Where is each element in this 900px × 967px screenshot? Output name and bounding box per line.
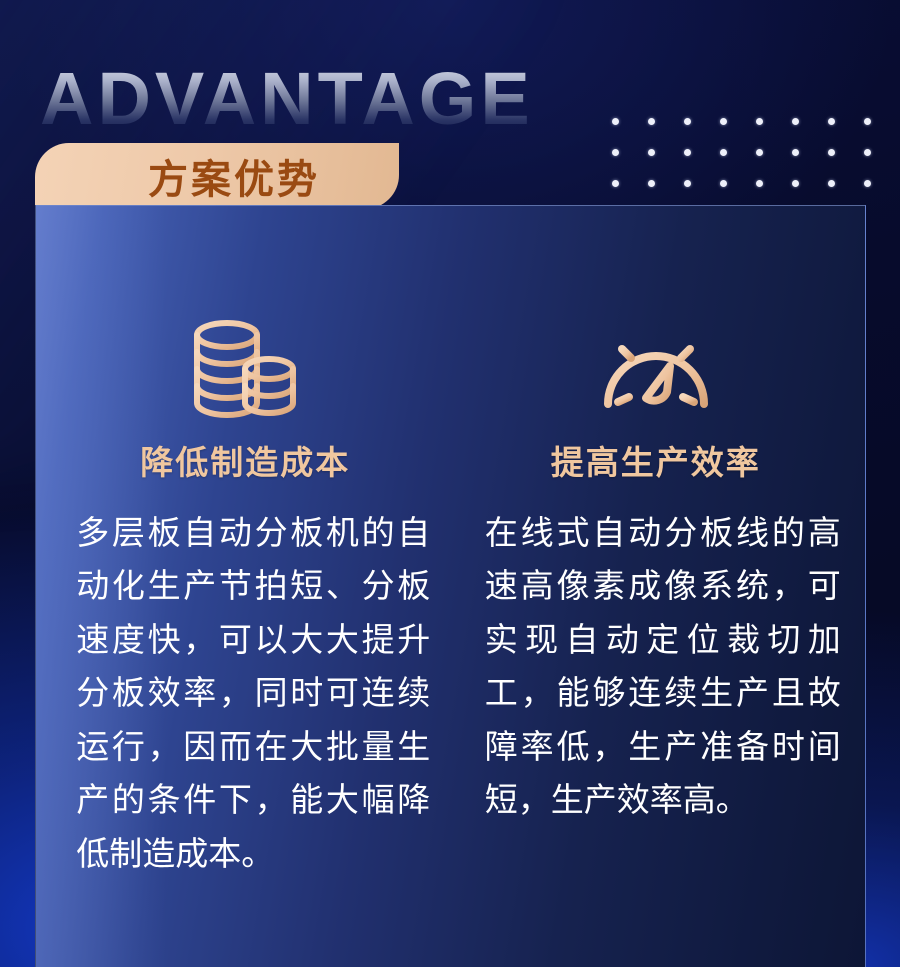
grid-dot bbox=[828, 180, 835, 187]
grid-dot bbox=[864, 180, 871, 187]
grid-dot bbox=[720, 118, 727, 125]
feature-item-cost: 降低制造成本 多层板自动分板机的自动化生产节拍短、分板速度快，可以大大提升分板效… bbox=[36, 206, 451, 967]
feature-body: 多层板自动分板机的自动化生产节拍短、分板速度快，可以大大提升分板效率，同时可连续… bbox=[60, 506, 430, 880]
grid-dot bbox=[864, 149, 871, 156]
section-badge-label: 方案优势 bbox=[148, 147, 320, 205]
grid-dot bbox=[612, 180, 619, 187]
grid-dot bbox=[648, 149, 655, 156]
feature-title: 降低制造成本 bbox=[140, 436, 350, 484]
advantage-card: 降低制造成本 多层板自动分板机的自动化生产节拍短、分板速度快，可以大大提升分板效… bbox=[35, 205, 866, 967]
grid-dot bbox=[684, 118, 691, 125]
grid-dot bbox=[828, 118, 835, 125]
poster-root: ADVANTAGE 方案优势 bbox=[0, 0, 900, 967]
grid-dot bbox=[756, 180, 763, 187]
grid-dot bbox=[720, 149, 727, 156]
feature-body: 在线式自动分板线的高速高像素成像系统，可实现自动定位裁切加工，能够连续生产且故障… bbox=[471, 506, 841, 827]
grid-dot bbox=[648, 180, 655, 187]
feature-columns: 降低制造成本 多层板自动分板机的自动化生产节拍短、分板速度快，可以大大提升分板效… bbox=[36, 206, 865, 967]
grid-dot bbox=[792, 180, 799, 187]
section-badge: 方案优势 bbox=[35, 143, 399, 209]
grid-dot bbox=[756, 118, 763, 125]
grid-dot bbox=[612, 149, 619, 156]
grid-dot bbox=[684, 180, 691, 187]
grid-dot bbox=[792, 118, 799, 125]
grid-dot bbox=[756, 149, 763, 156]
speedometer-icon bbox=[598, 318, 714, 422]
dot-grid-decoration bbox=[612, 118, 900, 211]
grid-dot bbox=[792, 149, 799, 156]
grid-dot bbox=[864, 118, 871, 125]
section-watermark-title: ADVANTAGE bbox=[40, 62, 534, 136]
feature-title: 提高生产效率 bbox=[551, 436, 761, 484]
grid-dot bbox=[648, 118, 655, 125]
grid-dot bbox=[612, 118, 619, 125]
grid-dot bbox=[720, 180, 727, 187]
coin-stack-icon bbox=[189, 318, 301, 422]
grid-dot bbox=[828, 149, 835, 156]
feature-item-efficiency: 提高生产效率 在线式自动分板线的高速高像素成像系统，可实现自动定位裁切加工，能够… bbox=[451, 206, 866, 967]
grid-dot bbox=[684, 149, 691, 156]
